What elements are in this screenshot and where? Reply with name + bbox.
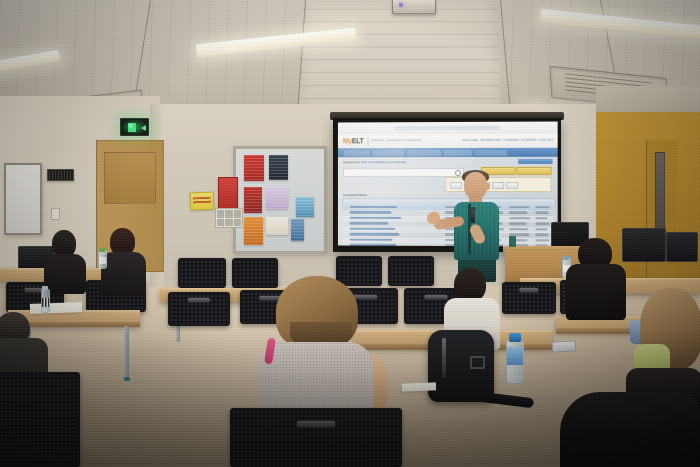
red-wall-poster <box>218 177 238 209</box>
breadcrumb: Assignments: Unit 1 Vocabulary and Gramm… <box>343 160 407 164</box>
poster-lilac-mid <box>266 187 288 209</box>
smartphone[interactable] <box>552 340 577 352</box>
create-assignment-button[interactable] <box>518 159 552 164</box>
chair-handle <box>518 287 539 293</box>
student-torso <box>566 264 626 320</box>
bottle-cap <box>509 333 521 342</box>
chair-front-left[interactable] <box>0 372 80 467</box>
breadcrumb-label: Assignments: <box>343 160 361 164</box>
ceiling-projector <box>392 0 436 14</box>
yellow-wall-notice <box>190 192 215 211</box>
chair-mesh-back <box>180 260 224 286</box>
desk-leg-cap <box>124 377 130 381</box>
bottle-label <box>507 347 523 365</box>
logo-divider <box>368 137 369 146</box>
chair-center-back-2[interactable] <box>388 256 434 286</box>
exit-arrow-icon <box>141 125 146 131</box>
logo-my-text: My <box>343 138 352 145</box>
student-head <box>454 268 486 302</box>
logo-elt-text: ELT <box>352 138 364 145</box>
browser-address-bar[interactable] <box>394 126 499 130</box>
header-links[interactable]: WELCOME, INSTRUCTOR | COURSES | SUPPORT … <box>462 138 553 142</box>
bottle-label <box>99 257 106 264</box>
worksheet-paper-center <box>402 382 436 391</box>
chair-mesh-back <box>232 410 400 465</box>
projector-led-icon <box>399 3 403 7</box>
water-bottle-center <box>506 340 524 384</box>
presenter-ear <box>485 183 490 190</box>
poster-orange-bottom <box>244 217 263 245</box>
student-left-second <box>42 230 88 292</box>
poster-red-top <box>244 155 264 181</box>
wall-speaker <box>47 169 74 181</box>
student-left-glasses <box>100 228 148 294</box>
student-right-dark <box>566 238 628 316</box>
small-whiteboard <box>4 163 42 235</box>
desktop-monitor-back-right-2 <box>666 232 698 262</box>
light-switch[interactable] <box>51 208 60 220</box>
student-torso <box>560 392 700 467</box>
chair-mesh-back <box>0 374 78 465</box>
bottle-cap <box>99 248 105 252</box>
left-door-panel <box>104 152 156 204</box>
chair-handle <box>296 420 336 428</box>
chair-right-1[interactable] <box>502 282 556 314</box>
water-bottle-left-2 <box>98 250 107 269</box>
calendar-grid-notice <box>215 208 243 228</box>
student-torso <box>101 252 146 296</box>
desktop-monitor-back-right <box>622 228 666 262</box>
running-man-icon <box>128 123 141 132</box>
backpack-buckle <box>470 356 485 369</box>
classroom-photo: Classroom presentation with projected My… <box>0 0 700 467</box>
poster-red-mid <box>244 187 262 213</box>
myelt-logo: MyELT <box>343 137 364 146</box>
chair-center-foreground[interactable] <box>230 408 402 467</box>
breadcrumb-value[interactable]: Unit 1 Vocabulary and Grammar <box>361 160 406 164</box>
presenter <box>438 172 516 282</box>
poster-blue-small <box>291 219 304 241</box>
poster-dark-top <box>269 155 288 180</box>
emergency-exit-sign <box>120 118 149 136</box>
backpack-zipper <box>442 338 446 378</box>
presenter-head <box>464 172 487 199</box>
table-section-label: Assignment Name <box>343 193 367 197</box>
nav-tab-gradebook[interactable] <box>407 150 441 156</box>
nav-tab-reports[interactable] <box>444 149 472 155</box>
desk-leg <box>124 326 129 378</box>
bottle-cap <box>42 286 48 290</box>
nav-tab-resources[interactable] <box>475 149 507 155</box>
logo-tagline: NATIONAL GEOGRAPHIC LEARNING <box>371 139 421 142</box>
nav-tab-home[interactable] <box>344 150 370 156</box>
chair-handle <box>187 297 211 303</box>
student-bottom-right <box>560 392 700 467</box>
poster-teal-right <box>296 197 314 217</box>
nav-tab-courses[interactable] <box>372 150 404 156</box>
chair-center-back-3[interactable] <box>178 258 226 288</box>
notice-board <box>233 146 327 254</box>
manage-folders-button[interactable] <box>516 167 551 175</box>
chair-mesh-back <box>390 258 432 284</box>
chair-mid-center-1[interactable] <box>168 292 230 326</box>
poster-white-bottom <box>266 217 288 235</box>
microphone <box>471 210 475 223</box>
student-right-foreground <box>626 288 700 408</box>
student-torso <box>44 254 86 294</box>
